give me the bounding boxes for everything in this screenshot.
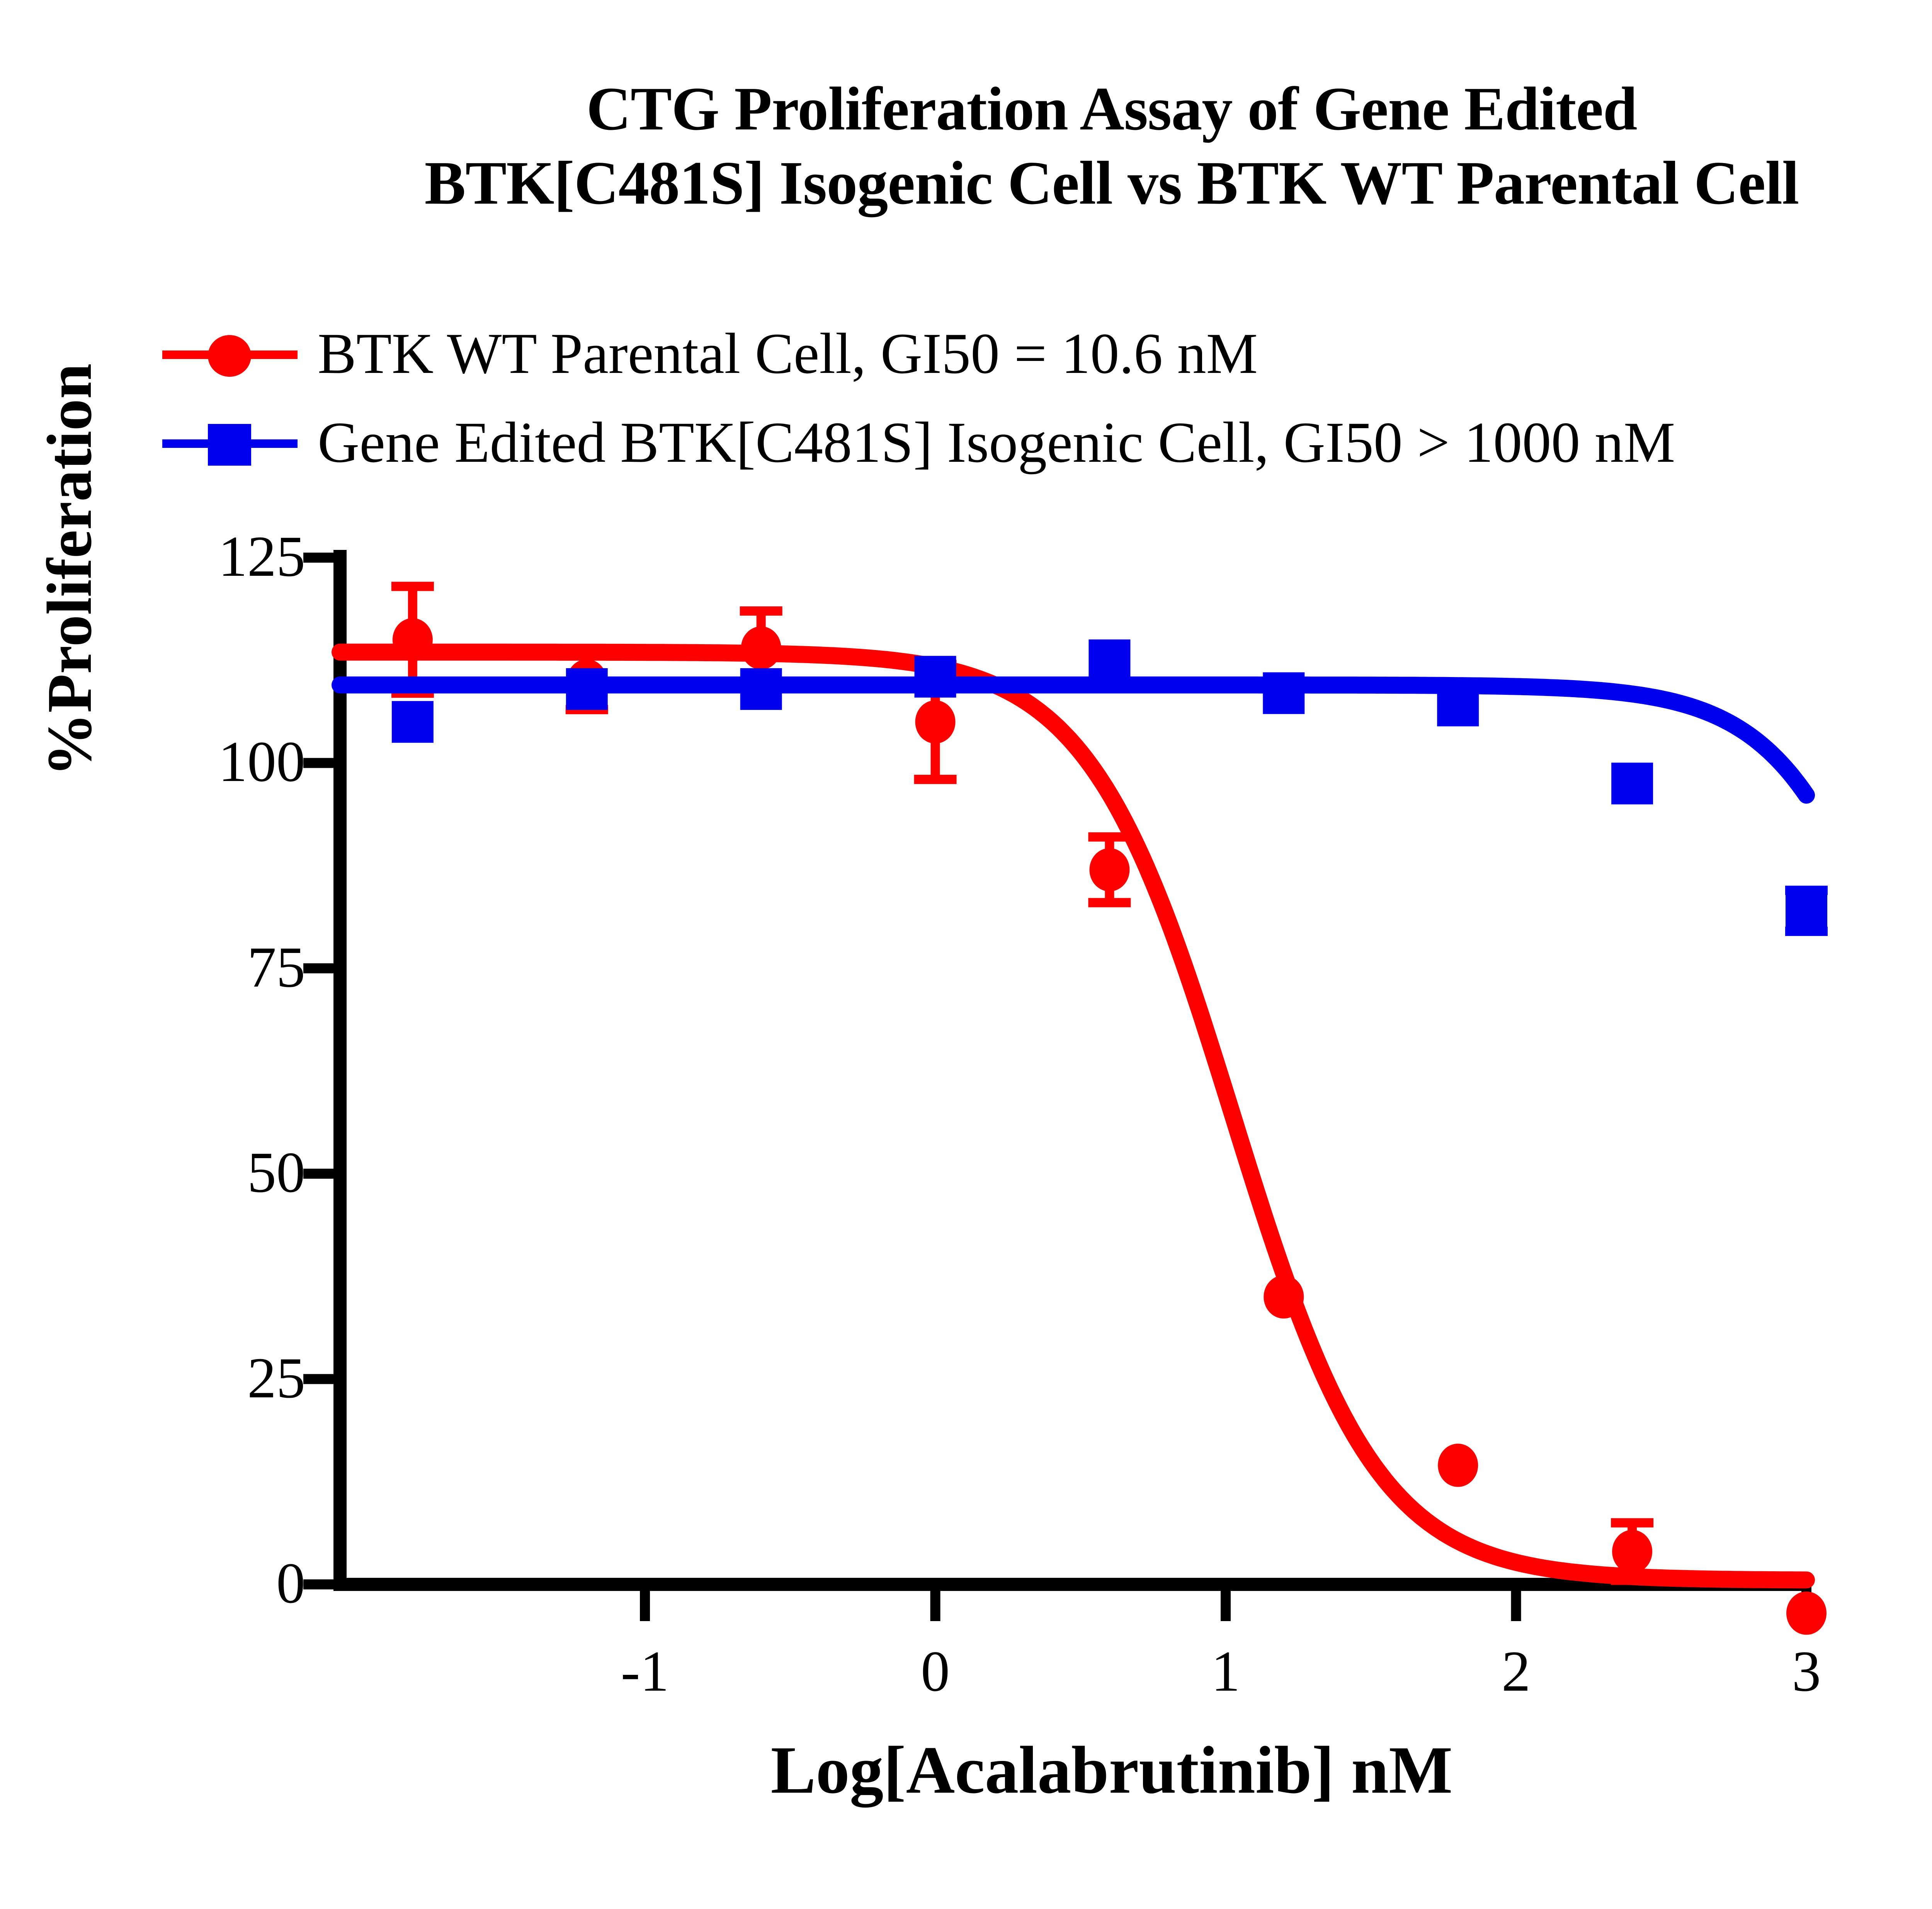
y-axis-tick-label: 0: [276, 1554, 305, 1612]
data-point-marker: [1786, 1591, 1827, 1635]
y-axis-tick-label: 75: [247, 938, 305, 996]
data-point-marker: [566, 668, 608, 710]
x-axis-title: Log[Acalabrutinib] nM: [0, 1731, 1932, 1809]
y-axis-tick-label: 50: [247, 1143, 305, 1201]
y-axis-title: %Proliferation: [33, 338, 106, 802]
y-axis-tick-label: 100: [218, 733, 305, 791]
data-point-marker: [740, 668, 782, 710]
chart-title-line-1: CTG Proliferation Assay of Gene Edited: [0, 71, 1932, 146]
legend-label-isogenic: Gene Edited BTK[C481S] Isogenic Cell, GI…: [298, 409, 1675, 476]
data-point-marker: [1264, 1275, 1304, 1319]
chart-title: CTG Proliferation Assay of Gene Edited B…: [0, 71, 1932, 220]
data-point-marker: [392, 701, 434, 743]
data-point-marker: [1438, 1444, 1478, 1487]
data-point-marker: [1437, 685, 1479, 727]
data-point-marker: [741, 626, 781, 670]
data-point-marker: [1088, 640, 1130, 681]
series-fit-curve: [340, 652, 1806, 1580]
data-point-marker: [1611, 763, 1653, 805]
data-point-marker: [915, 656, 956, 698]
x-axis-tick-label: 1: [1211, 1642, 1240, 1700]
data-point-marker: [393, 618, 433, 662]
data-point-marker: [1612, 1530, 1652, 1573]
data-point-marker: [915, 700, 956, 744]
chart-title-line-2: BTK[C481S] Isogenic Cell vs BTK WT Paren…: [0, 146, 1932, 220]
legend-label-parental: BTK WT Parental Cell, GI50 = 10.6 nM: [298, 320, 1258, 387]
x-axis-tick-label: 0: [921, 1642, 950, 1700]
legend-item-isogenic: Gene Edited BTK[C481S] Isogenic Cell, GI…: [162, 398, 1932, 487]
x-axis-tick-label: -1: [621, 1642, 669, 1700]
y-axis-tick-label: 25: [247, 1349, 305, 1407]
plot-area: 0255075100125 -10123: [0, 533, 1932, 1909]
chart-figure: CTG Proliferation Assay of Gene Edited B…: [0, 0, 1932, 1908]
legend-item-parental: BTK WT Parental Cell, GI50 = 10.6 nM: [162, 309, 1932, 398]
series-isogenic: [340, 640, 1828, 932]
chart-legend: BTK WT Parental Cell, GI50 = 10.6 nM Gen…: [162, 309, 1932, 487]
series-parental: [340, 586, 1827, 1635]
x-axis-tick-label: 2: [1502, 1642, 1531, 1700]
legend-marker-square-icon: [162, 419, 298, 466]
data-point-marker: [1786, 890, 1827, 932]
data-point-marker: [1089, 848, 1129, 892]
x-axis-tick-label: 3: [1792, 1642, 1821, 1700]
legend-marker-circle-icon: [162, 330, 298, 377]
data-point-marker: [1263, 672, 1304, 714]
y-axis-tick-label: 125: [218, 527, 305, 585]
